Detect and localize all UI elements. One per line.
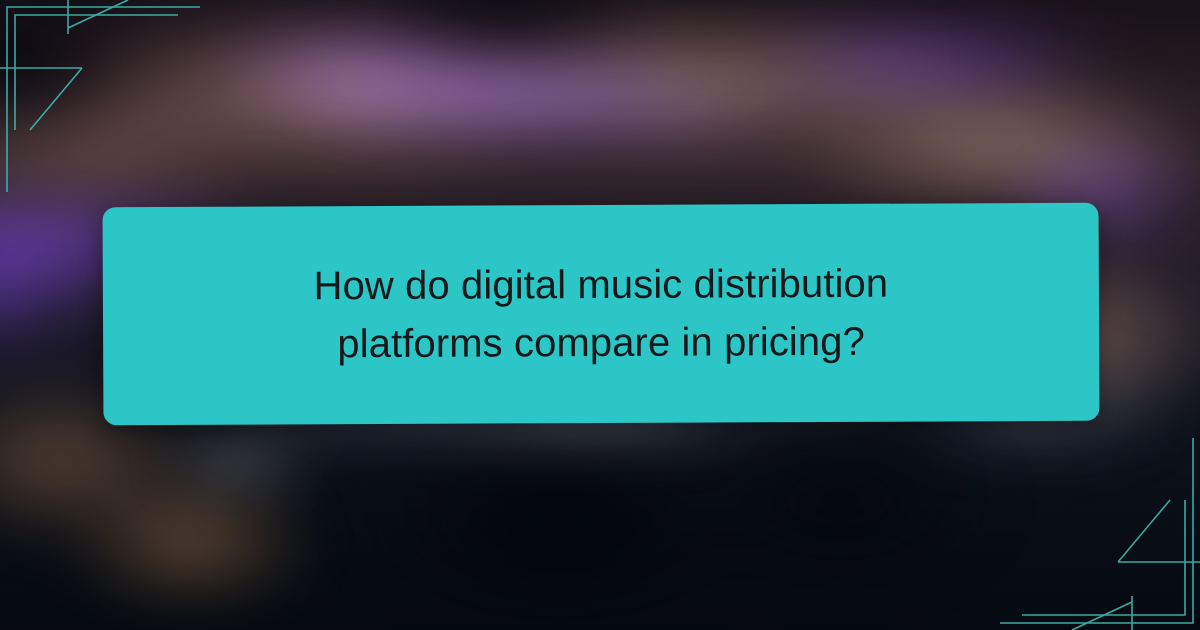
- corner-bracket-bottom-right-icon: [990, 430, 1200, 630]
- page-title: How do digital music distribution platfo…: [211, 254, 992, 374]
- social-card: How do digital music distribution platfo…: [0, 0, 1200, 630]
- headline-panel: How do digital music distribution platfo…: [103, 203, 1100, 426]
- corner-bracket-top-left-icon: [0, 0, 210, 200]
